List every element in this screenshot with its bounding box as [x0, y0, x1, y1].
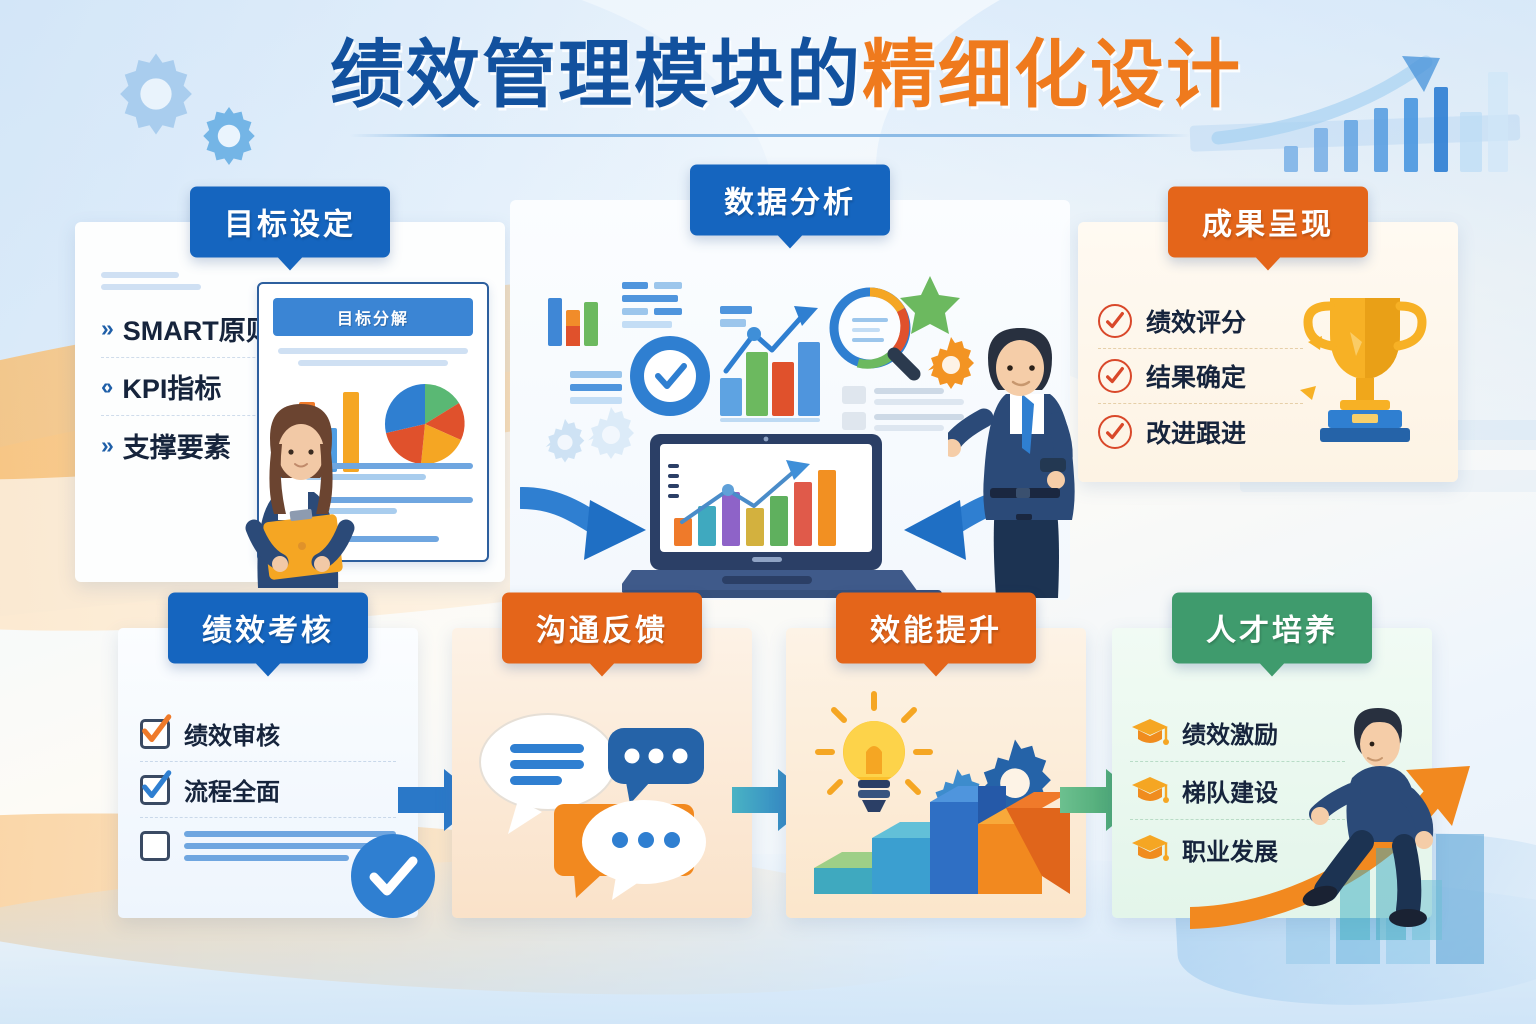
checkbox-checked-icon[interactable]	[140, 719, 170, 749]
card-list-icon	[842, 386, 964, 431]
placeholder-line	[101, 284, 201, 290]
text-lines-icon	[622, 282, 682, 328]
chevron-double-right-icon: »	[101, 315, 111, 342]
speech-bubbles-group	[462, 700, 752, 900]
curved-arrow-right-icon	[520, 468, 650, 568]
panel-improvement-ribbon: 效能提升	[836, 593, 1036, 664]
assessment-item-label: 流程全面	[184, 772, 280, 807]
panel-assessment-ribbon: 绩效考核	[168, 593, 368, 664]
improvement-illustration	[800, 690, 1090, 905]
placeholder-line	[101, 272, 179, 278]
results-list-item[interactable]: 改进跟进	[1098, 404, 1303, 459]
graduation-cap-icon	[1130, 774, 1170, 808]
panel-performance-assessment[interactable]: 绩效考核 绩效审核 流程全面	[118, 628, 418, 918]
results-item-label: 绩效评分	[1146, 303, 1246, 339]
results-item-label: 结果确定	[1146, 358, 1246, 394]
bar-chart-icon	[548, 298, 598, 346]
goal-item-label: SMART原则	[123, 309, 273, 348]
page-title-accent: 精细化设计	[862, 33, 1242, 116]
page-title-primary: 绩效管理模块的	[330, 33, 862, 116]
gear-icon	[196, 103, 262, 169]
placeholder-line	[278, 348, 468, 354]
gear-icon	[110, 48, 202, 140]
graduation-cap-icon	[1130, 716, 1170, 750]
panel-results-ribbon: 成果呈现	[1168, 187, 1368, 258]
laptop-icon	[622, 430, 942, 600]
results-list-item[interactable]: 绩效评分	[1098, 294, 1303, 349]
trophy-icon	[1290, 282, 1440, 447]
infographic-canvas: 绩效管理模块的精细化设计 目标设定 » SMART原则 ‹› KPI指标 » 支…	[0, 0, 1536, 1024]
results-check-list: 绩效评分 结果确定 改进跟进	[1098, 294, 1303, 459]
panel-feedback-ribbon: 沟通反馈	[502, 593, 702, 664]
panel-talent-ribbon: 人才培养	[1172, 593, 1372, 664]
placeholder-line	[298, 360, 448, 366]
results-item-label: 改进跟进	[1146, 414, 1246, 450]
results-list-item[interactable]: 结果确定	[1098, 349, 1303, 404]
assessment-list-item[interactable]: 绩效审核	[140, 706, 396, 762]
text-lines-icon	[720, 306, 752, 327]
businesswoman-with-clipboard-icon	[236, 378, 366, 588]
text-lines-icon	[570, 371, 622, 404]
panel-data-ribbon: 数据分析	[690, 165, 890, 236]
chevron-left-right-icon: ‹›	[101, 373, 110, 400]
speech-bubble-dots-white-icon	[582, 800, 706, 900]
magnifier-icon	[834, 292, 914, 374]
goal-item-label: 支撑要素	[123, 426, 231, 465]
title-divider	[350, 134, 1190, 137]
dashboard-card-header: 目标分解	[273, 298, 473, 336]
chevron-double-right-icon: »	[101, 432, 111, 459]
check-circle-icon	[350, 833, 436, 924]
graduation-cap-icon	[1130, 832, 1170, 866]
stair-steps-icon	[814, 786, 1070, 894]
businessman-presenting-icon	[948, 298, 1123, 598]
checkbox-checked-icon[interactable]	[140, 775, 170, 805]
assessment-list-item[interactable]: 流程全面	[140, 762, 396, 818]
speech-bubble-dots-icon	[608, 728, 704, 804]
check-circle-icon	[630, 336, 710, 416]
panel-goal-ribbon: 目标设定	[190, 187, 390, 258]
page-title: 绩效管理模块的精细化设计	[330, 38, 1210, 137]
gear-icon	[546, 419, 585, 463]
checkbox-unchecked-icon[interactable]	[140, 831, 170, 861]
assessment-item-label: 绩效审核	[184, 716, 280, 751]
goal-item-label: KPI指标	[122, 367, 221, 406]
running-businessman-icon	[1300, 700, 1450, 945]
lightbulb-icon	[818, 694, 930, 812]
